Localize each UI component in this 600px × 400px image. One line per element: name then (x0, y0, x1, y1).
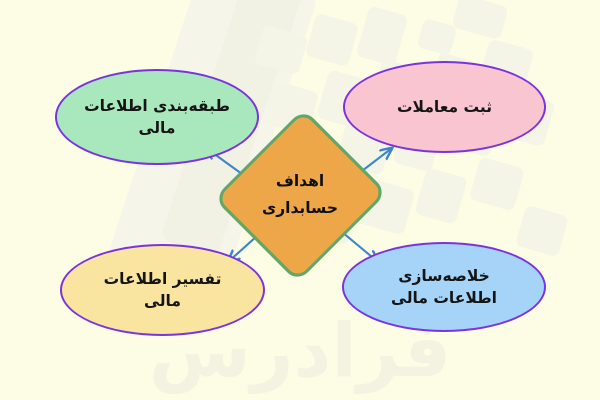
node-classify-label: طبقه‌بندی اطلاعات مالی (74, 95, 240, 140)
node-record-label: ثبت معاملات (387, 96, 502, 118)
node-accounting-objectives[interactable]: اهداف حسابداری (220, 110, 380, 280)
node-interpret-label: تفسیر اطلاعات مالی (94, 268, 232, 313)
diagram-canvas: فرادرس طبقه‌بندی اطلاعات مالی ثبت معاملا… (0, 0, 600, 400)
node-summarize-label: خلاصه‌سازی اطلاعات مالی (381, 265, 507, 310)
node-center-label: اهداف حسابداری (262, 168, 338, 222)
